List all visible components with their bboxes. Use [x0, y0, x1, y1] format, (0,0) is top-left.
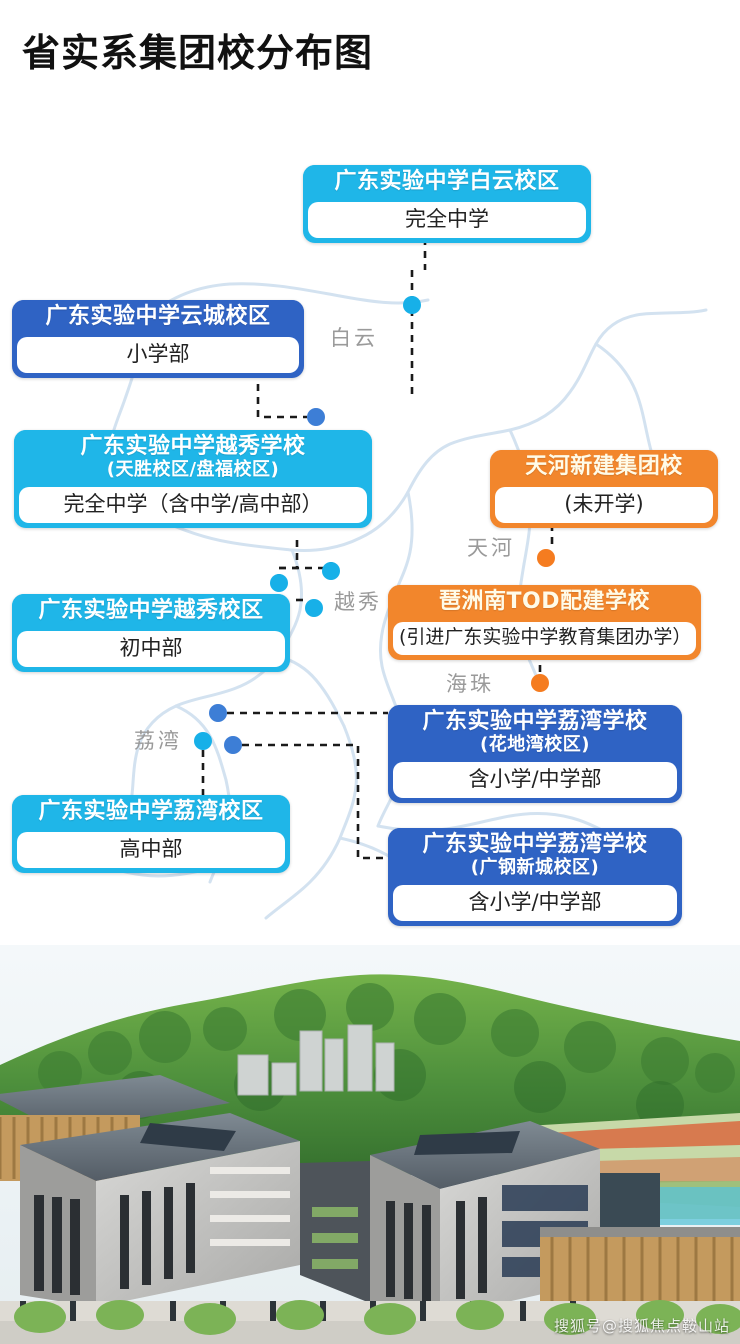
map-marker-liwan-b[interactable]	[194, 732, 212, 750]
school-card-yuncheng[interactable]: 广东实验中学云城校区 小学部	[12, 300, 304, 378]
school-card-yuncheng-body: 小学部	[17, 337, 299, 373]
school-card-baiyun-head: 广东实验中学白云校区	[303, 165, 591, 202]
map-marker-yuexiu-a[interactable]	[322, 562, 340, 580]
photo-watermark: 搜狐号@搜狐焦点鞍山站	[554, 1315, 730, 1336]
school-card-huadiwan-body: 含小学/中学部	[393, 762, 677, 798]
infographic-page: 省实系集团校分布图	[0, 0, 740, 1344]
map-marker-liwan-c[interactable]	[224, 736, 242, 754]
school-card-pazhou[interactable]: 琶洲南TOD配建学校 (引进广东实验中学教育集团办学）	[388, 585, 701, 660]
school-card-baiyun[interactable]: 广东实验中学白云校区 完全中学	[303, 165, 591, 243]
school-card-pazhou-title: 琶洲南TOD配建学校	[400, 590, 689, 615]
school-card-huadiwan-title: 广东实验中学荔湾学校	[400, 710, 670, 735]
campus-photo-illustration	[0, 945, 740, 1344]
district-label-tianhe: 天河	[467, 532, 515, 562]
school-card-tianhe-head: 天河新建集团校	[490, 450, 718, 487]
school-card-tianhe[interactable]: 天河新建集团校 (未开学)	[490, 450, 718, 528]
school-card-huadiwan[interactable]: 广东实验中学荔湾学校 (花地湾校区) 含小学/中学部	[388, 705, 682, 803]
map-marker-tianhe[interactable]	[537, 549, 555, 567]
school-card-liwan-campus-title: 广东实验中学荔湾校区	[24, 800, 278, 825]
district-label-yuexiu: 越秀	[334, 586, 382, 616]
map-marker-yuexiu-b[interactable]	[270, 574, 288, 592]
map-marker-pazhou[interactable]	[531, 674, 549, 692]
page-title: 省实系集团校分布图	[22, 22, 373, 77]
school-card-guanggang-title: 广东实验中学荔湾学校	[400, 833, 670, 858]
school-card-yuexiu-campus-head: 广东实验中学越秀校区	[12, 594, 290, 631]
school-card-huadiwan-head: 广东实验中学荔湾学校 (花地湾校区)	[388, 705, 682, 762]
school-card-tianhe-title: 天河新建集团校	[502, 455, 706, 480]
map-marker-baiyun[interactable]	[403, 296, 421, 314]
school-card-yuexiu-campus[interactable]: 广东实验中学越秀校区 初中部	[12, 594, 290, 672]
school-card-yuexiu-campus-title: 广东实验中学越秀校区	[24, 599, 278, 624]
map-marker-liwan-a[interactable]	[209, 704, 227, 722]
school-card-yuexiu-campus-body: 初中部	[17, 631, 285, 667]
school-card-guanggang[interactable]: 广东实验中学荔湾学校 (广钢新城校区) 含小学/中学部	[388, 828, 682, 926]
school-card-pazhou-head: 琶洲南TOD配建学校	[388, 585, 701, 622]
district-label-haizhu: 海珠	[446, 668, 494, 698]
school-card-yuexiu-school[interactable]: 广东实验中学越秀学校 (天胜校区/盘福校区) 完全中学（含中学/高中部）	[14, 430, 372, 528]
campus-aerial-photo: 搜狐号@搜狐焦点鞍山站	[0, 945, 740, 1344]
map-marker-yuexiu-c[interactable]	[305, 599, 323, 617]
school-card-huadiwan-subtitle: (花地湾校区)	[400, 735, 670, 755]
school-card-liwan-campus[interactable]: 广东实验中学荔湾校区 高中部	[12, 795, 290, 873]
school-card-baiyun-title: 广东实验中学白云校区	[315, 170, 579, 195]
school-card-yuncheng-title: 广东实验中学云城校区	[24, 305, 292, 330]
school-card-yuexiu-school-head: 广东实验中学越秀学校 (天胜校区/盘福校区)	[14, 430, 372, 487]
school-card-liwan-campus-head: 广东实验中学荔湾校区	[12, 795, 290, 832]
map-marker-yuncheng[interactable]	[307, 408, 325, 426]
district-label-baiyun: 白云	[330, 322, 378, 352]
school-card-guanggang-head: 广东实验中学荔湾学校 (广钢新城校区)	[388, 828, 682, 885]
school-card-guanggang-body: 含小学/中学部	[393, 885, 677, 921]
school-card-tianhe-body: (未开学)	[495, 487, 713, 523]
district-label-liwan: 荔湾	[134, 725, 182, 755]
school-card-liwan-campus-body: 高中部	[17, 832, 285, 868]
school-card-yuexiu-school-title: 广东实验中学越秀学校	[26, 435, 360, 460]
school-card-yuexiu-school-subtitle: (天胜校区/盘福校区)	[26, 460, 360, 480]
school-card-pazhou-body: (引进广东实验中学教育集团办学）	[393, 622, 696, 656]
school-card-yuncheng-head: 广东实验中学云城校区	[12, 300, 304, 337]
school-card-yuexiu-school-body: 完全中学（含中学/高中部）	[19, 487, 367, 523]
school-card-baiyun-body: 完全中学	[308, 202, 586, 238]
school-card-guanggang-subtitle: (广钢新城校区)	[400, 858, 670, 878]
